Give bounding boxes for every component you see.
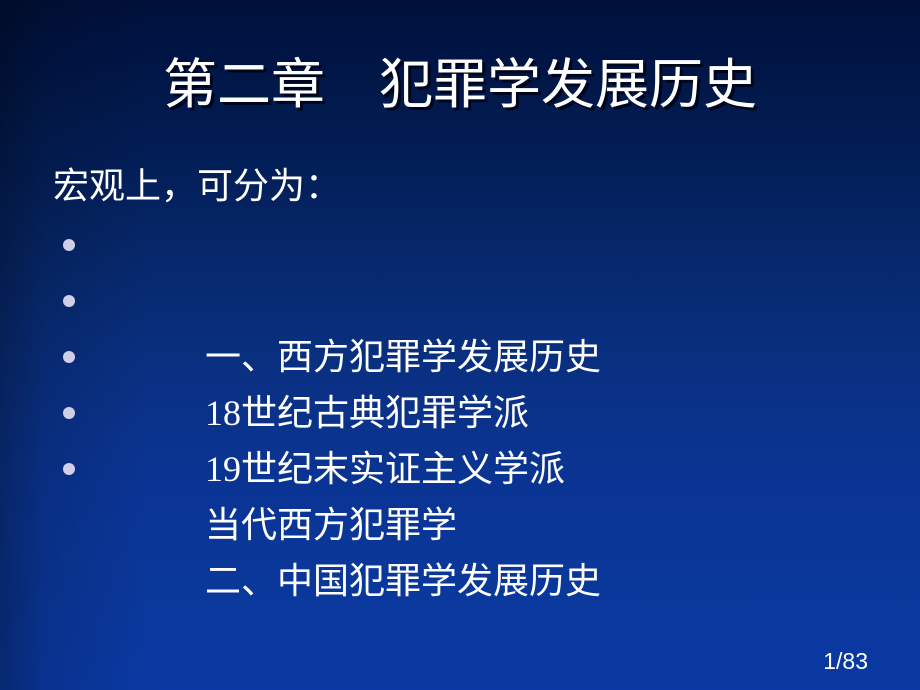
intro-line: 宏观上，可分为： bbox=[53, 163, 880, 209]
list-item: 一、西方犯罪学发展历史 bbox=[50, 217, 880, 273]
list-item: 18世纪古典犯罪学派 bbox=[50, 273, 880, 329]
bullet-point-icon bbox=[63, 295, 75, 307]
presentation-slide: 第二章 犯罪学发展历史 宏观上，可分为： 一、西方犯罪学发展历史 18世纪古典犯… bbox=[0, 0, 920, 690]
bullet-point-icon bbox=[63, 351, 75, 363]
slide-body: 宏观上，可分为： 一、西方犯罪学发展历史 18世纪古典犯罪学派 19世纪末实证主… bbox=[50, 163, 880, 497]
slide-title: 第二章 犯罪学发展历史 bbox=[0, 50, 920, 120]
bullet-list: 一、西方犯罪学发展历史 18世纪古典犯罪学派 19世纪末实证主义学派 当代西方犯… bbox=[50, 217, 880, 497]
bullet-point-icon bbox=[63, 239, 75, 251]
list-item-label: 当代西方犯罪学 bbox=[205, 497, 457, 553]
list-item: 19世纪末实证主义学派 bbox=[50, 329, 880, 385]
list-item: 二、中国犯罪学发展历史 bbox=[50, 441, 880, 497]
list-item: 当代西方犯罪学 bbox=[50, 385, 880, 441]
page-number: 1/83 bbox=[823, 648, 868, 674]
bullet-point-icon bbox=[63, 407, 75, 419]
bullet-point-icon bbox=[63, 463, 75, 475]
list-item-label: 二、中国犯罪学发展历史 bbox=[205, 553, 601, 609]
